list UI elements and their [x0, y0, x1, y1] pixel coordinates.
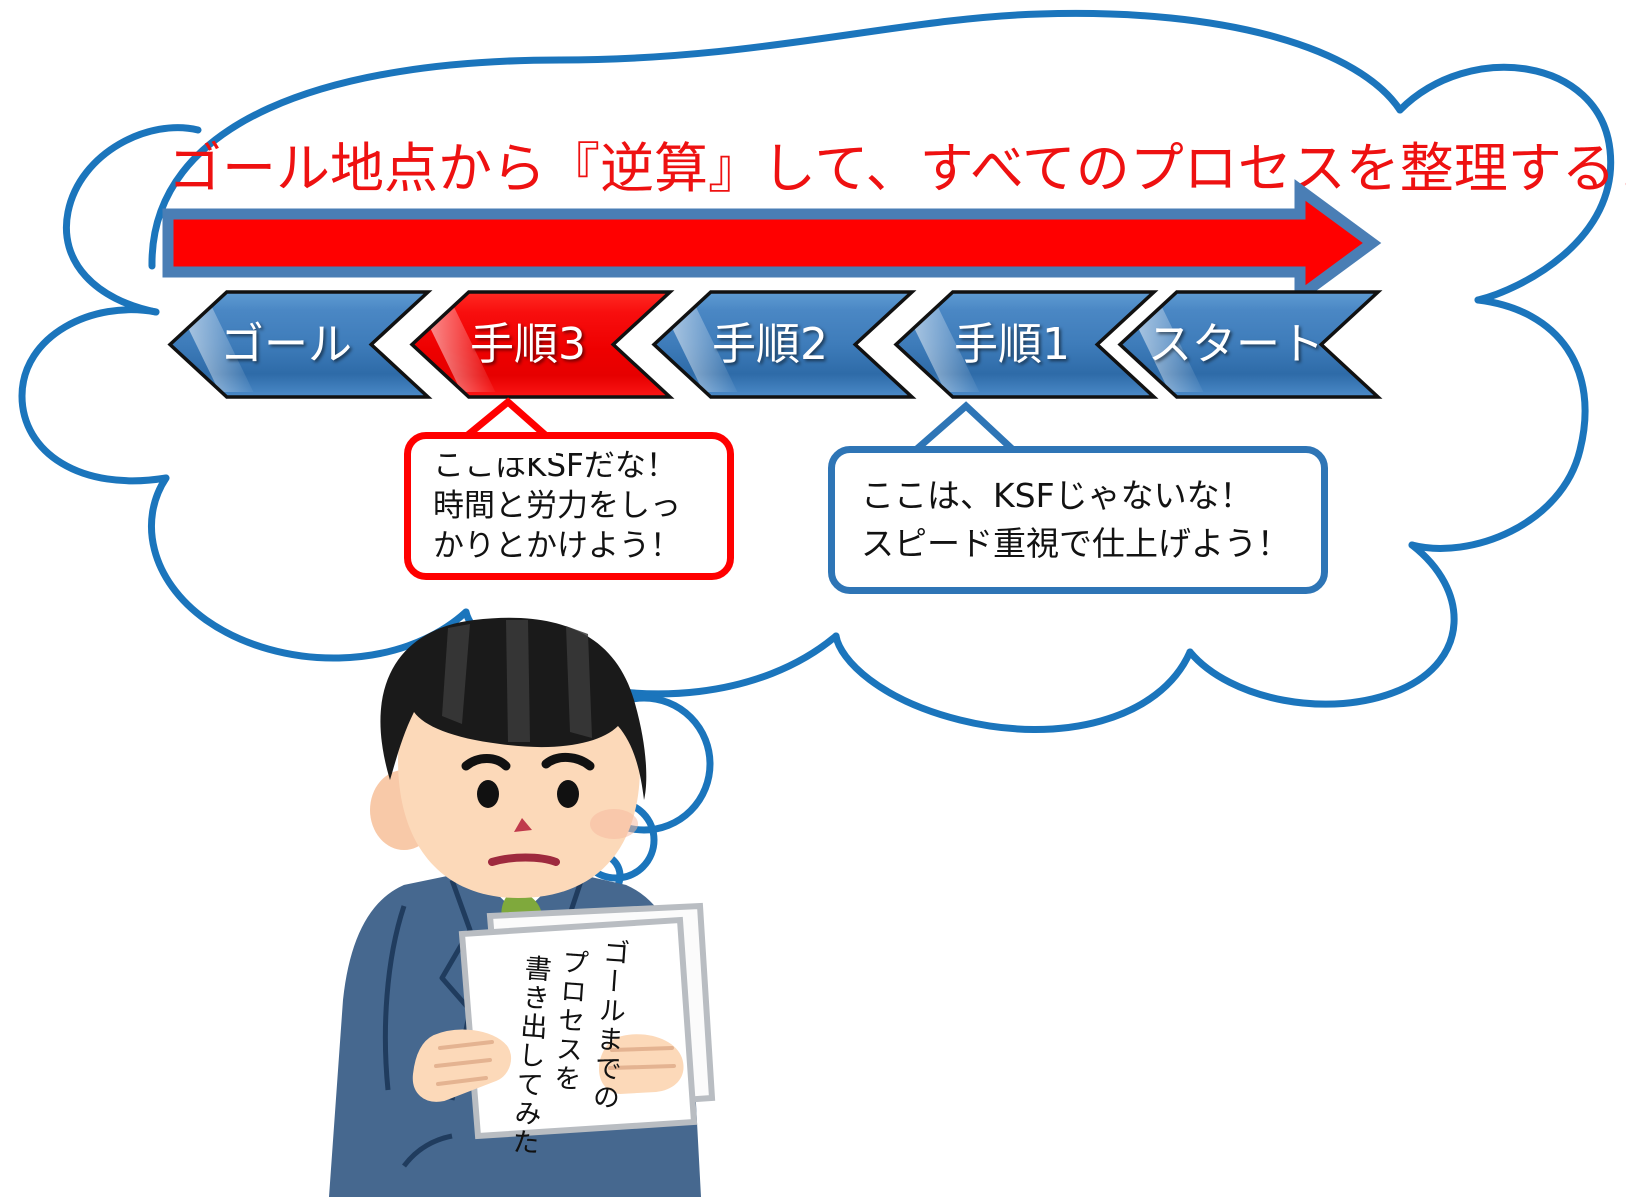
diagram-canvas: ゴール地点から『逆算』して、すべてのプロセスを整理する！ ゴール 手順3 手順2… — [0, 0, 1626, 1197]
head — [370, 618, 646, 898]
businessman-illustration — [0, 0, 1626, 1197]
